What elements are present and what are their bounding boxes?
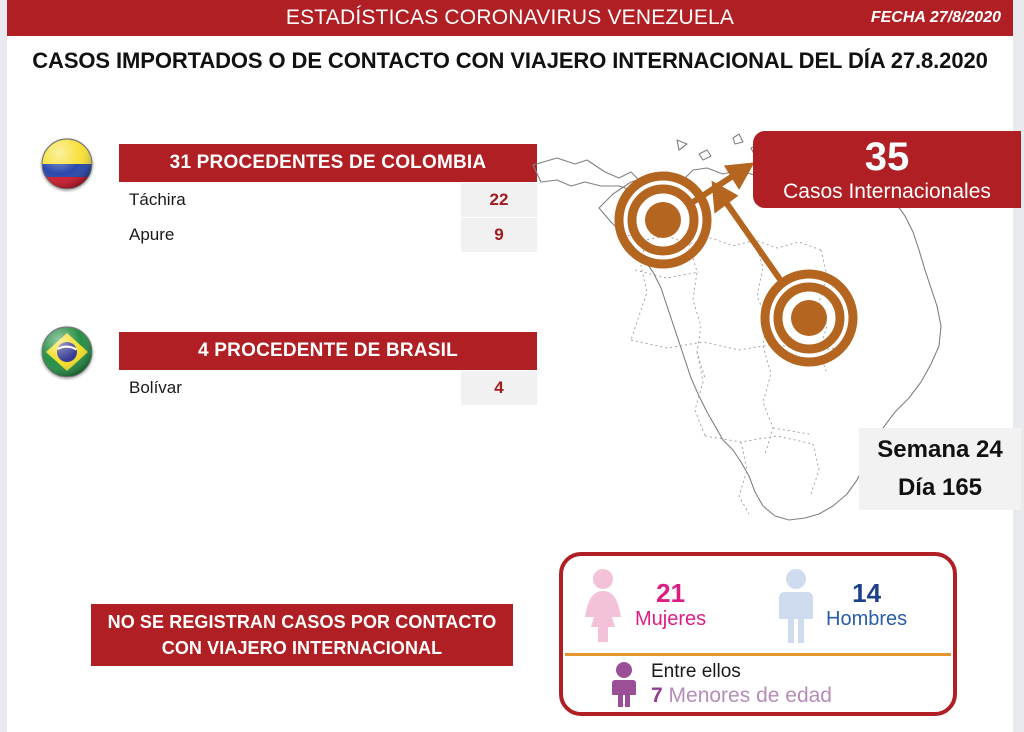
colombia-table-heading: 31 PROCEDENTES DE COLOMBIA xyxy=(119,144,537,182)
slide-sheet: ESTADÍSTICAS CORONAVIRUS VENEZUELA FECHA… xyxy=(7,0,1013,732)
notice-line-1: NO SE REGISTRAN CASOS POR CONTACTO xyxy=(91,609,513,635)
country-block-brasil: 4 PROCEDENTE DE BRASIL Bolívar 4 xyxy=(41,326,541,416)
minors-line: 7 Menores de edad xyxy=(651,683,832,708)
minors-count: 7 xyxy=(651,684,663,707)
table-cell-label: Bolívar xyxy=(119,371,461,405)
brasil-table-heading: 4 PROCEDENTE DE BRASIL xyxy=(119,332,537,370)
female-label: Mujeres xyxy=(635,607,706,631)
notice-line-2: CON VIAJERO INTERNACIONAL xyxy=(91,635,513,661)
marker-colombia-border xyxy=(619,176,707,264)
table-row: Táchira 22 xyxy=(119,183,537,217)
day-label: Día 165 xyxy=(859,469,1021,507)
brazil-flag-icon xyxy=(41,326,93,378)
page-title: ESTADÍSTICAS CORONAVIRUS VENEZUELA xyxy=(7,0,1013,36)
header-bar: ESTADÍSTICAS CORONAVIRUS VENEZUELA FECHA… xyxy=(7,0,1013,36)
female-stat: 21 Mujeres xyxy=(563,556,758,653)
male-count: 14 xyxy=(826,579,907,607)
male-stat: 14 Hombres xyxy=(758,556,953,653)
male-text: 14 Hombres xyxy=(826,579,907,631)
week-label: Semana 24 xyxy=(859,431,1021,469)
colombia-table: 31 PROCEDENTES DE COLOMBIA Táchira 22 Ap… xyxy=(119,144,537,252)
table-cell-label: Táchira xyxy=(119,183,461,217)
minors-text: Entre ellos 7 Menores de edad xyxy=(651,660,832,708)
infographic-page: ESTADÍSTICAS CORONAVIRUS VENEZUELA FECHA… xyxy=(0,0,1024,732)
brasil-table: 4 PROCEDENTE DE BRASIL Bolívar 4 xyxy=(119,332,537,405)
female-figure-icon xyxy=(577,567,629,643)
table-cell-label: Apure xyxy=(119,218,461,252)
table-row: Bolívar 4 xyxy=(119,371,537,405)
female-text: 21 Mujeres xyxy=(635,579,706,631)
no-contact-cases-notice: NO SE REGISTRAN CASOS POR CONTACTO CON V… xyxy=(91,604,513,666)
colombia-flag-icon xyxy=(41,138,93,190)
subtitle: CASOS IMPORTADOS O DE CONTACTO CON VIAJE… xyxy=(7,48,1013,74)
international-cases-label: Casos Internacionales xyxy=(753,179,1021,205)
marker-bolivar xyxy=(765,274,853,362)
male-figure-icon xyxy=(772,567,820,643)
header-date: FECHA 27/8/2020 xyxy=(871,0,1001,36)
minors-label: Menores de edad xyxy=(669,684,832,707)
minors-intro: Entre ellos xyxy=(651,660,832,683)
minors-stat: Entre ellos 7 Menores de edad xyxy=(563,656,953,711)
country-block-colombia: 31 PROCEDENTES DE COLOMBIA Táchira 22 Ap… xyxy=(41,138,541,258)
gender-breakdown: 21 Mujeres 14 Hombres xyxy=(563,556,953,653)
international-cases-count: 35 xyxy=(753,131,1021,179)
child-figure-icon xyxy=(607,661,641,707)
table-cell-value: 9 xyxy=(461,218,537,252)
table-row: Apure 9 xyxy=(119,218,537,252)
international-cases-badge: 35 Casos Internacionales xyxy=(753,131,1021,208)
male-label: Hombres xyxy=(826,607,907,631)
table-cell-value: 4 xyxy=(461,371,537,405)
table-cell-value: 22 xyxy=(461,183,537,217)
female-count: 21 xyxy=(635,579,706,607)
week-day-box: Semana 24 Día 165 xyxy=(859,428,1021,510)
page-left-margin xyxy=(0,0,7,732)
demographics-panel: 21 Mujeres 14 Hombres xyxy=(559,552,957,716)
